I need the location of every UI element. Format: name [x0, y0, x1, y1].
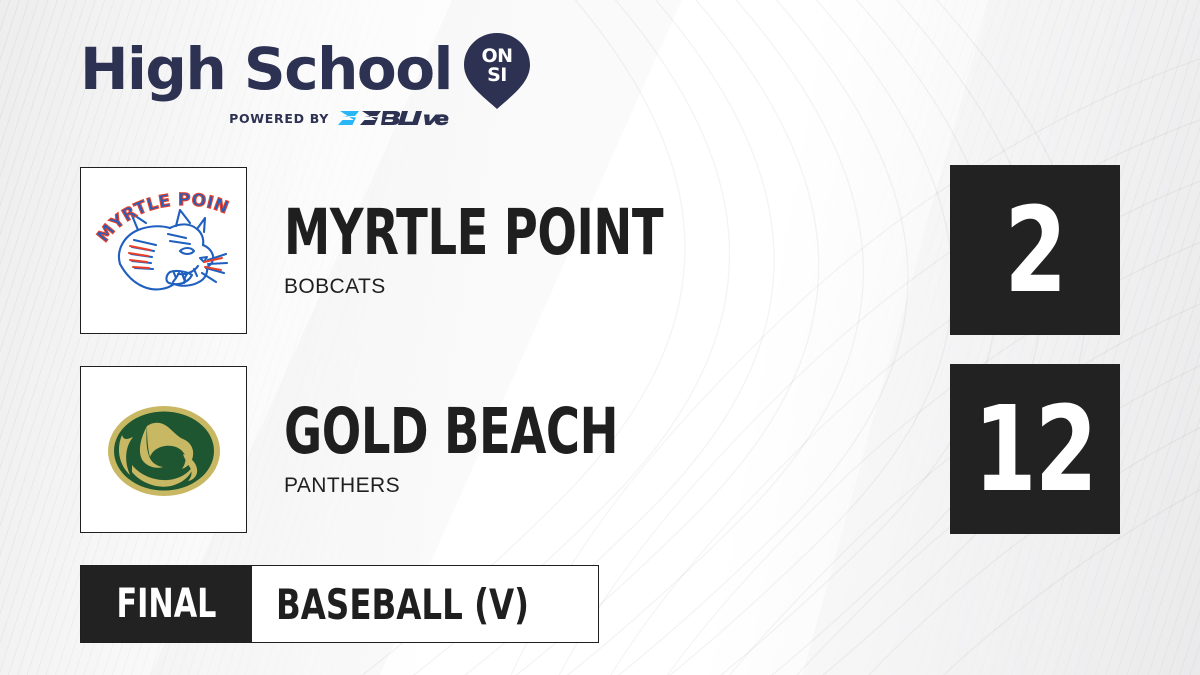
scorecard-graphic: High School ON SI POWERED BY [0, 0, 1200, 675]
status-badge-label: FINAL [117, 581, 217, 627]
page-title: High School [80, 40, 452, 98]
brand-header: High School ON SI POWERED BY [80, 36, 520, 138]
team-score: 12 [974, 390, 1096, 508]
pin-label-si: SI [487, 64, 507, 86]
brand-subtitle-row: POWERED BY [80, 108, 450, 128]
sblive-logo-icon [338, 108, 450, 128]
team-name: MYRTLE POINT [284, 202, 663, 264]
team-mascot: BOBCATS [284, 276, 746, 298]
score-box: 12 [950, 364, 1120, 534]
sport-label: BASEBALL (V) [276, 580, 529, 629]
brand-title-row: High School ON SI [80, 36, 520, 102]
team-name: GOLD BEACH [284, 401, 618, 463]
gold-beach-panthers-logo [80, 366, 247, 533]
powered-by-label: POWERED BY [229, 111, 329, 126]
team-mascot: PANTHERS [284, 475, 691, 497]
game-status-bar: FINAL BASEBALL (V) [80, 565, 599, 643]
location-pin-icon: ON SI [462, 31, 532, 111]
status-badge: FINAL [81, 566, 252, 642]
sport-label-container: BASEBALL (V) [252, 566, 598, 642]
team-score: 2 [1004, 191, 1065, 309]
myrtle-point-bobcats-logo: MYRTLE POINT [80, 167, 247, 334]
team-text-block: MYRTLE POINT BOBCATS [284, 202, 746, 298]
score-box: 2 [950, 165, 1120, 335]
team-text-block: GOLD BEACH PANTHERS [284, 401, 691, 497]
